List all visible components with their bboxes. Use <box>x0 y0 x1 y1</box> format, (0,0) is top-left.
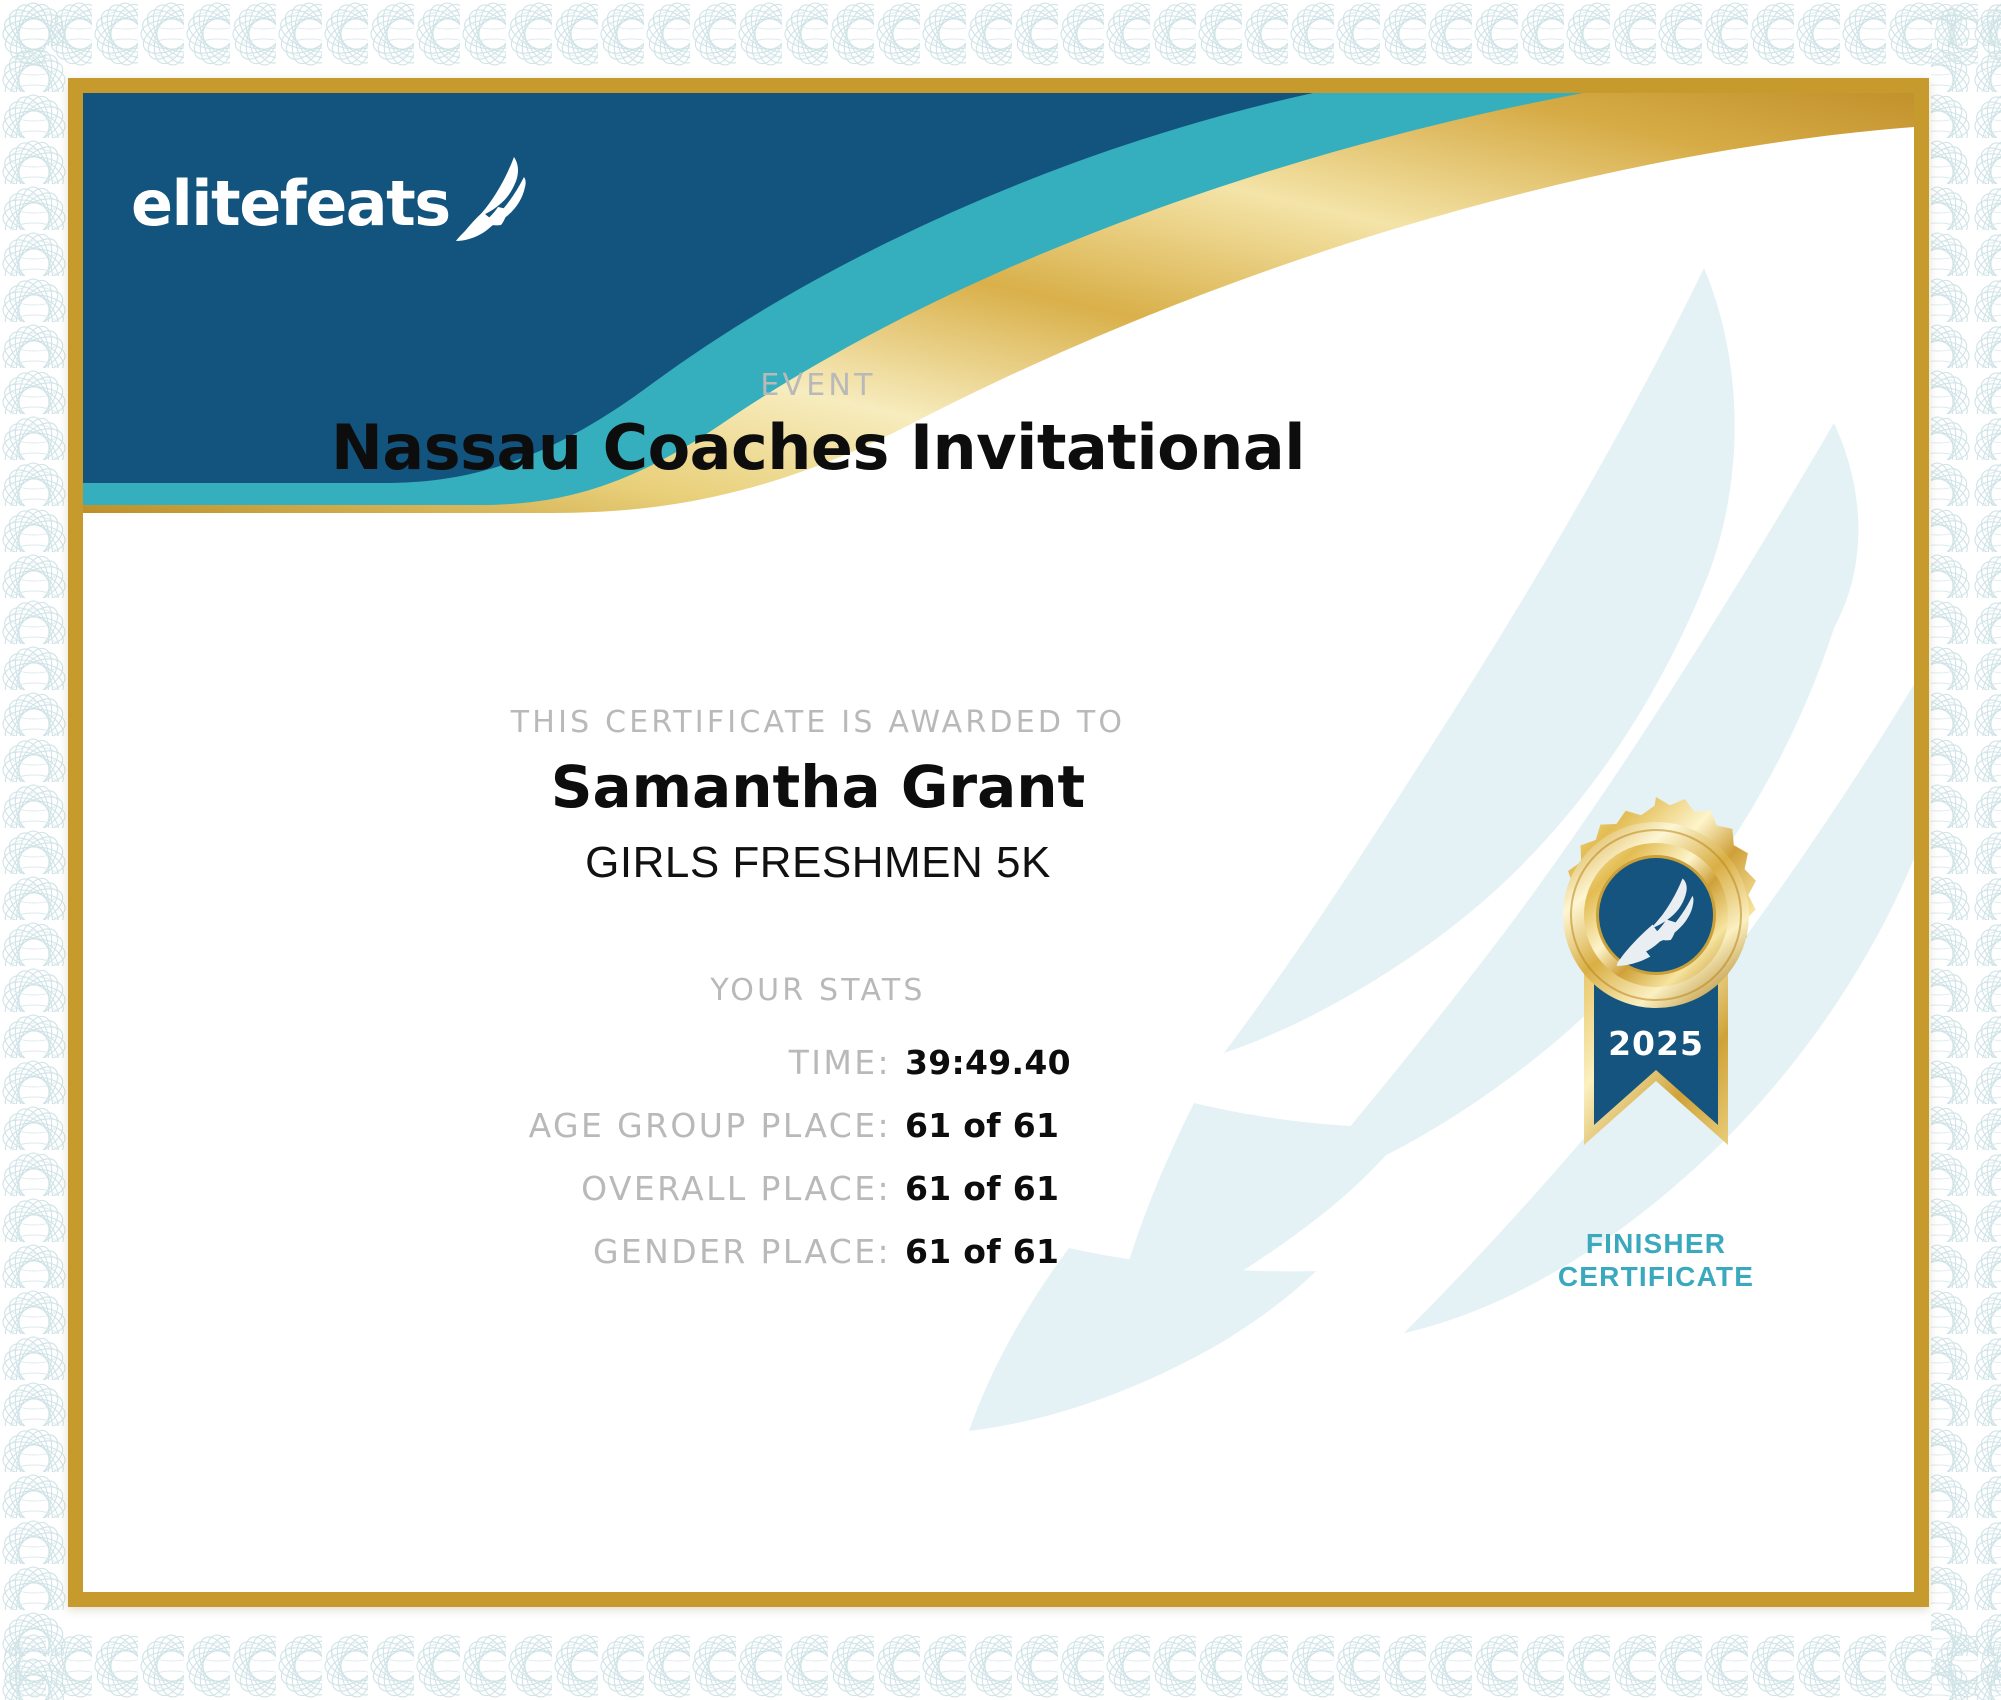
winged-foot-icon <box>454 155 528 243</box>
event-label-row: EVENT <box>83 368 1553 403</box>
stat-label-time: TIME: <box>411 1043 891 1082</box>
brand-logo: elitefeats <box>131 165 528 243</box>
stat-row-gender-place: GENDER PLACE: 61 of 61 <box>83 1232 1553 1295</box>
stats-list: TIME: 39:49.40 AGE GROUP PLACE: 61 of 61… <box>83 1043 1553 1295</box>
stat-row-age-group-place: AGE GROUP PLACE: 61 of 61 <box>83 1106 1553 1169</box>
stat-value-age-group-place: 61 of 61 <box>891 1106 1225 1145</box>
stat-label-overall-place: OVERALL PLACE: <box>411 1169 891 1208</box>
medal-year: 2025 <box>1608 1024 1704 1063</box>
stats-label: YOUR STATS <box>710 973 925 1008</box>
stat-row-time: TIME: 39:49.40 <box>83 1043 1553 1106</box>
division-name: GIRLS FRESHMEN 5K <box>83 838 1553 888</box>
stat-row-overall-place: OVERALL PLACE: 61 of 61 <box>83 1169 1553 1232</box>
seal-caption-line1: FINISHER <box>1506 1227 1806 1260</box>
event-label: EVENT <box>760 368 875 403</box>
seal-caption-line2: CERTIFICATE <box>1506 1260 1806 1293</box>
stat-value-overall-place: 61 of 61 <box>891 1169 1225 1208</box>
seal-caption: FINISHER CERTIFICATE <box>1506 1227 1806 1293</box>
certificate-body: elitefeats EVENT Nassau Coaches Invitati… <box>83 93 1914 1592</box>
event-name: Nassau Coaches Invitational <box>83 411 1553 484</box>
awarded-to-label: THIS CERTIFICATE IS AWARDED TO <box>511 705 1125 740</box>
stat-value-time: 39:49.40 <box>891 1043 1225 1082</box>
certificate-page: elitefeats EVENT Nassau Coaches Invitati… <box>0 0 2001 1700</box>
awarded-to-label-row: THIS CERTIFICATE IS AWARDED TO <box>83 705 1553 740</box>
recipient-name: Samantha Grant <box>83 753 1553 821</box>
stat-value-gender-place: 61 of 61 <box>891 1232 1225 1271</box>
medal-graphic: 2025 <box>1506 793 1806 1213</box>
brand-logo-text: elitefeats <box>131 173 450 235</box>
stat-label-age-group-place: AGE GROUP PLACE: <box>411 1106 891 1145</box>
certificate-gold-frame: elitefeats EVENT Nassau Coaches Invitati… <box>68 78 1929 1607</box>
stat-label-gender-place: GENDER PLACE: <box>411 1232 891 1271</box>
finisher-medal-seal: 2025 <box>1506 793 1806 1293</box>
stats-label-row: YOUR STATS <box>83 973 1553 1008</box>
